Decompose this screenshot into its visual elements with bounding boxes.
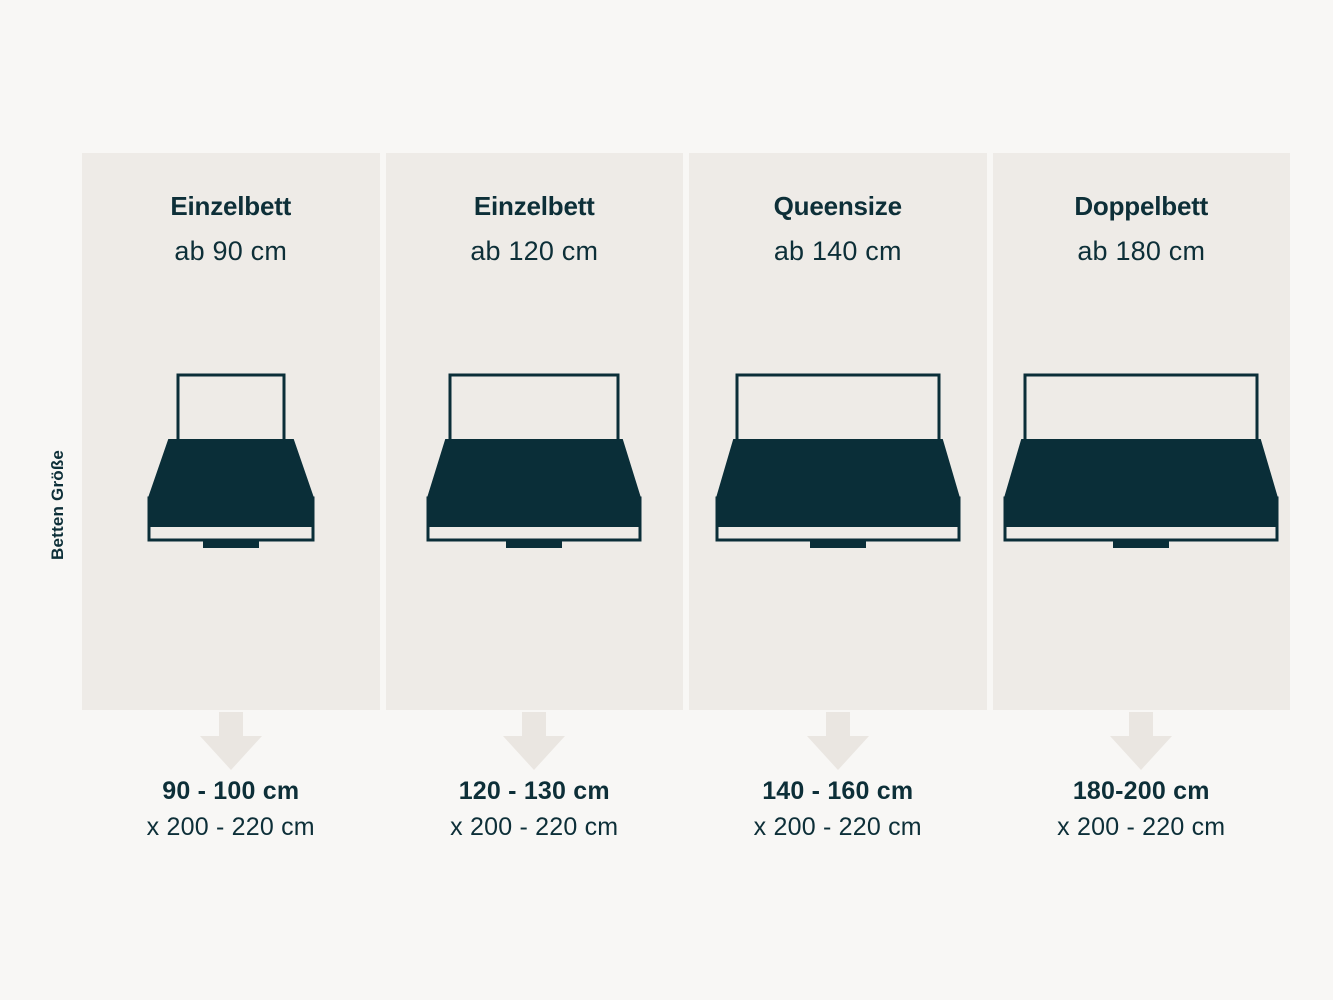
panel-subtitle-1: ab 90 cm [82, 231, 380, 271]
bed-icon [141, 372, 321, 552]
bed-size-panel-1: Einzelbett ab 90 cm [82, 153, 380, 710]
arrow-shaft [219, 712, 243, 738]
panel-title-4: Doppelbett [993, 189, 1291, 223]
panel-subtitle-4: ab 180 cm [993, 231, 1291, 271]
bed-icon [997, 372, 1285, 552]
panel-title-1: Einzelbett [82, 189, 380, 223]
bed-illustration-3 [689, 372, 987, 552]
caption-row: 90 - 100 cm x 200 - 220 cm 120 - 130 cm … [82, 775, 1290, 885]
arrow-cell-2 [386, 712, 684, 774]
caption-secondary-3: x 200 - 220 cm [689, 807, 987, 847]
caption-secondary-1: x 200 - 220 cm [82, 807, 380, 847]
panel-subtitle-3: ab 140 cm [689, 231, 987, 271]
bed-illustration-1 [82, 372, 380, 552]
panel-title-2: Einzelbett [386, 189, 684, 223]
arrow-head [1110, 736, 1172, 770]
arrow-row [82, 712, 1290, 774]
caption-cell-1: 90 - 100 cm x 200 - 220 cm [82, 775, 380, 885]
bed-icon [709, 372, 967, 552]
arrow-shaft [522, 712, 546, 738]
panel-title-3: Queensize [689, 189, 987, 223]
bed-size-panel-2: Einzelbett ab 120 cm [386, 153, 684, 710]
panel-heading-3: Queensize ab 140 cm [689, 189, 987, 271]
arrow-down-icon [807, 712, 869, 770]
caption-cell-2: 120 - 130 cm x 200 - 220 cm [386, 775, 684, 885]
caption-cell-3: 140 - 160 cm x 200 - 220 cm [689, 775, 987, 885]
caption-main-4: 180-200 cm [993, 775, 1291, 807]
arrow-head [200, 736, 262, 770]
caption-main-2: 120 - 130 cm [386, 775, 684, 807]
arrow-head [807, 736, 869, 770]
panel-heading-1: Einzelbett ab 90 cm [82, 189, 380, 271]
panel-heading-2: Einzelbett ab 120 cm [386, 189, 684, 271]
arrow-down-icon [200, 712, 262, 770]
arrow-cell-4 [993, 712, 1291, 774]
bed-size-panel-3: Queensize ab 140 cm [689, 153, 987, 710]
caption-secondary-4: x 200 - 220 cm [993, 807, 1291, 847]
bed-icon [420, 372, 648, 552]
vertical-axis-label: Betten Größe [43, 300, 73, 560]
arrow-down-icon [1110, 712, 1172, 770]
infographic-canvas: Betten Größe Einzelbett ab 90 cm E [0, 0, 1333, 1000]
bed-illustration-4 [993, 372, 1291, 552]
arrow-down-icon [503, 712, 565, 770]
caption-cell-4: 180-200 cm x 200 - 220 cm [993, 775, 1291, 885]
bed-illustration-2 [386, 372, 684, 552]
bed-size-panel-4: Doppelbett ab 180 cm [993, 153, 1291, 710]
arrow-cell-3 [689, 712, 987, 774]
panel-subtitle-2: ab 120 cm [386, 231, 684, 271]
arrow-cell-1 [82, 712, 380, 774]
arrow-shaft [1129, 712, 1153, 738]
panel-heading-4: Doppelbett ab 180 cm [993, 189, 1291, 271]
panel-row: Einzelbett ab 90 cm Einzelbett ab 120 cm [82, 153, 1290, 710]
caption-main-3: 140 - 160 cm [689, 775, 987, 807]
caption-main-1: 90 - 100 cm [82, 775, 380, 807]
arrow-shaft [826, 712, 850, 738]
caption-secondary-2: x 200 - 220 cm [386, 807, 684, 847]
arrow-head [503, 736, 565, 770]
